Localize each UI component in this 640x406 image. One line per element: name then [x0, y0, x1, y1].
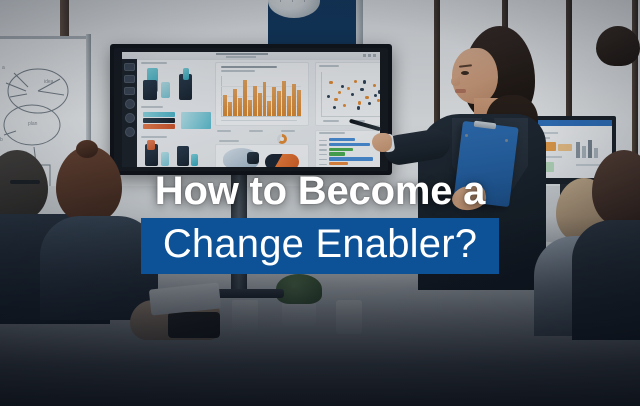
hair-bun — [76, 140, 98, 158]
scatter-point — [377, 99, 380, 102]
scatter-point — [378, 90, 380, 93]
presenter-eye — [461, 71, 469, 75]
scatter-point — [351, 93, 354, 96]
bar — [576, 142, 580, 158]
3d-render — [265, 154, 299, 167]
cup — [232, 300, 258, 330]
bar — [292, 84, 296, 116]
layers-icon[interactable] — [124, 75, 135, 83]
svg-text:a: a — [2, 65, 5, 71]
chart-axis-x — [221, 116, 301, 117]
bar — [282, 81, 286, 116]
bar — [594, 148, 598, 158]
bar — [329, 143, 370, 146]
scatter-point — [363, 80, 366, 83]
scatter-chart-series — [322, 72, 380, 114]
bar — [329, 157, 373, 160]
record-icon[interactable] — [125, 99, 135, 109]
color-swatch — [143, 118, 175, 123]
chart-block — [558, 144, 572, 151]
product-render — [143, 80, 157, 100]
bar — [272, 87, 276, 116]
scatter-point — [374, 94, 377, 97]
display-stand — [231, 175, 247, 293]
bar-label — [319, 164, 327, 166]
presenter-lip — [455, 89, 466, 93]
product-render — [177, 146, 189, 166]
scatter-point — [365, 96, 368, 99]
bar — [329, 162, 348, 165]
bar-label — [319, 149, 327, 151]
bar — [248, 100, 252, 116]
grid-icon[interactable] — [124, 63, 135, 71]
bar-label — [319, 159, 327, 161]
hbar-chart-series — [319, 138, 380, 167]
bar — [297, 90, 301, 116]
color-swatch — [143, 112, 175, 117]
bar — [243, 80, 247, 116]
scatter-point — [341, 85, 344, 88]
banner-image: idea plan a b — [0, 0, 640, 406]
door-frame — [60, 0, 69, 40]
scatter-point — [358, 101, 361, 104]
cup — [336, 300, 362, 334]
window-controls[interactable] — [363, 54, 376, 57]
color-swatch — [181, 112, 211, 129]
bar — [267, 101, 271, 116]
product-render — [183, 68, 189, 80]
scatter-point — [368, 102, 371, 105]
pen — [168, 312, 220, 338]
attendee-body — [572, 220, 640, 340]
bar — [329, 152, 345, 155]
scatter-point — [333, 106, 336, 109]
bar — [329, 138, 355, 141]
conference-room-scene: idea plan a b — [0, 0, 640, 406]
product-render — [161, 152, 169, 166]
svg-text:plan: plan — [28, 121, 38, 127]
dashboard-title-text — [216, 53, 268, 55]
bar — [223, 95, 227, 116]
bar — [329, 148, 353, 151]
dashboard-icon-rail[interactable] — [122, 59, 137, 167]
scatter-point — [329, 81, 332, 84]
color-swatch — [143, 124, 175, 129]
bar — [253, 86, 257, 116]
scatter-point — [373, 84, 376, 87]
bar — [238, 98, 242, 116]
bar — [277, 91, 281, 116]
bar-label — [319, 154, 327, 156]
glasses-icon — [10, 180, 40, 184]
bar — [258, 93, 262, 116]
bar — [228, 102, 232, 116]
bar-label — [319, 144, 327, 146]
attendee-head — [596, 26, 640, 66]
scatter-point — [343, 104, 346, 107]
scatter-point — [360, 88, 363, 91]
3d-render — [247, 152, 259, 164]
scatter-point — [354, 80, 357, 83]
presenter-nose — [451, 76, 460, 86]
product-render — [191, 154, 198, 166]
scatter-point — [327, 95, 330, 98]
bar — [287, 96, 291, 116]
bar-chart-series — [223, 76, 301, 116]
bar — [582, 146, 586, 158]
scatter-point — [334, 98, 337, 101]
dashboard-subtitle-text — [226, 56, 256, 58]
scatter-point — [347, 87, 350, 90]
dashboard-screen — [122, 52, 380, 167]
user-icon[interactable] — [125, 127, 135, 137]
scatter-point — [338, 91, 341, 94]
bar — [588, 140, 592, 158]
mail-icon[interactable] — [124, 87, 135, 95]
target-icon[interactable] — [125, 113, 135, 123]
scatter-point — [357, 106, 360, 109]
bar-label — [319, 140, 327, 142]
product-render — [161, 82, 170, 98]
bar — [233, 89, 237, 116]
presenter-hand — [372, 133, 392, 152]
bar — [263, 82, 267, 116]
product-render — [147, 140, 155, 150]
svg-text:b: b — [0, 137, 3, 143]
svg-text:idea: idea — [44, 79, 54, 85]
